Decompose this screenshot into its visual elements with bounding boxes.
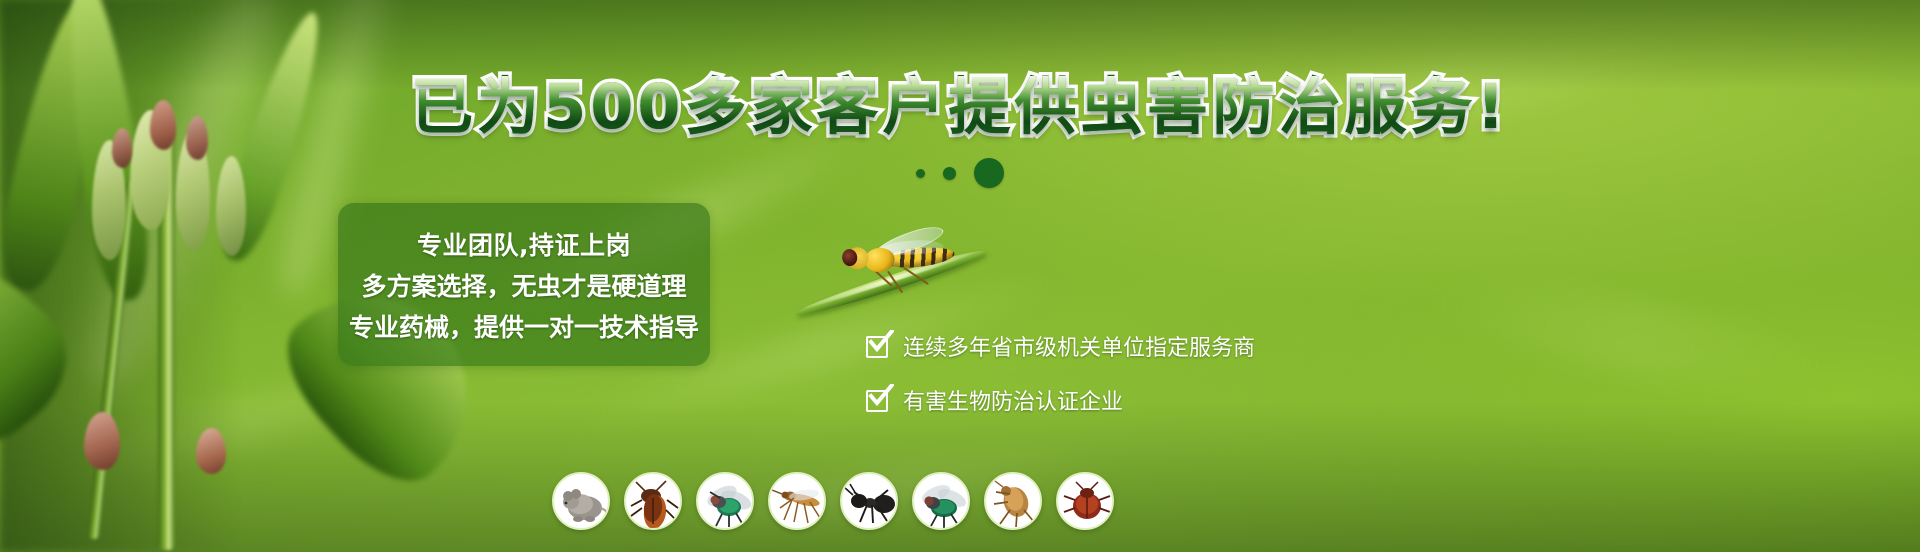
claim-line-1: 专业团队,持证上岗 xyxy=(417,226,631,262)
checkbox-checked-icon xyxy=(866,388,891,413)
mosquito-icon[interactable] xyxy=(768,472,826,530)
mouse-icon[interactable] xyxy=(552,472,610,530)
claim-line-3: 专业药械，提供一对一技术指导 xyxy=(349,308,699,344)
headline-text: 已为500多家客户提供虫害防治服务! xyxy=(411,76,1509,138)
checklist-item: 连续多年省市级机关单位指定服务商 xyxy=(866,330,1255,362)
pest-icons-row xyxy=(552,472,1114,530)
pest-control-banner: 已为500多家客户提供虫害防治服务! 已为500多家客户提供虫害防治服务! 专业… xyxy=(0,0,1920,552)
checklist-item-label: 连续多年省市级机关单位指定服务商 xyxy=(903,330,1255,362)
dot-small-icon xyxy=(916,169,925,178)
dot-large-icon xyxy=(974,158,1004,188)
bedbug-icon[interactable] xyxy=(1056,472,1114,530)
claim-line-2: 多方案选择，无虫才是硬道理 xyxy=(361,267,686,303)
checkbox-checked-icon xyxy=(866,334,891,359)
checklist-item-label: 有害生物防治认证企业 xyxy=(903,384,1123,416)
cockroach-icon[interactable] xyxy=(624,472,682,530)
decorative-dots xyxy=(0,158,1920,188)
headline-outline: 已为500多家客户提供虫害防治服务! xyxy=(0,76,1920,138)
dot-medium-icon xyxy=(943,167,956,180)
credentials-checklist: 连续多年省市级机关单位指定服务商 有害生物防治认证企业 xyxy=(866,330,1255,416)
claims-text-group: 专业团队,持证上岗 多方案选择，无虫才是硬道理 专业药械，提供一对一技术指导 xyxy=(338,203,710,366)
flea-icon[interactable] xyxy=(984,472,1042,530)
blowfly-icon[interactable] xyxy=(912,472,970,530)
housefly-icon[interactable] xyxy=(696,472,754,530)
checklist-item: 有害生物防治认证企业 xyxy=(866,384,1255,416)
ant-icon[interactable] xyxy=(840,472,898,530)
